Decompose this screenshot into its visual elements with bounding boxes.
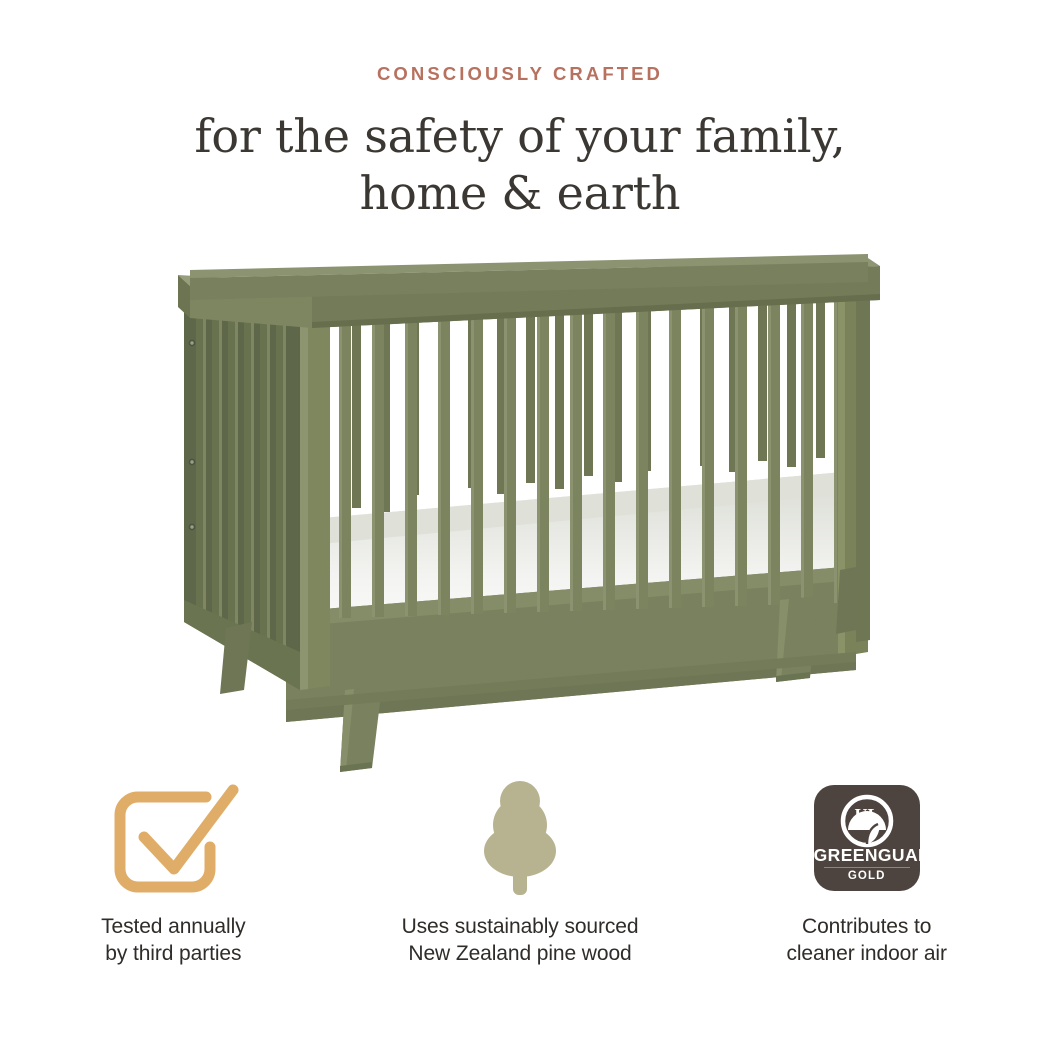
greenguard-name: GREENGUARD <box>814 845 920 866</box>
crib-mattress <box>300 470 866 662</box>
caption-line-1: Tested annually <box>101 915 245 938</box>
leg-front-left <box>340 686 382 772</box>
caption-line-1: Uses sustainably sourced <box>402 915 639 938</box>
crib-front-left-post <box>300 300 330 690</box>
page-title: for the safety of your family, home & ea… <box>0 108 1040 222</box>
feature-tested-annually: Tested annually by third parties <box>0 775 347 985</box>
check-square-icon <box>102 775 244 900</box>
greenguard-tier: GOLD <box>814 870 920 882</box>
caption-line-2: New Zealand pine wood <box>402 940 639 967</box>
greenguard-badge: UL GREENGUARD GOLD <box>814 785 920 891</box>
crib-left-end-panel <box>184 300 300 690</box>
feature-caption: Uses sustainably sourced New Zealand pin… <box>402 913 639 967</box>
crib-base-rail <box>286 566 856 722</box>
crib-front-right-post <box>838 274 868 657</box>
caption-line-1: Contributes to <box>802 915 931 938</box>
leg-back-left <box>220 622 252 694</box>
crib-front-slats <box>306 276 846 618</box>
marketing-graphic: CONSCIOUSLY CRAFTED for the safety of yo… <box>0 0 1040 1040</box>
greenguard-gold-badge-icon: UL GREENGUARD GOLD <box>814 775 920 900</box>
crib-top-rail-back <box>190 254 868 300</box>
crib-top-rail-left <box>178 275 312 328</box>
feature-sustainable-wood: Uses sustainably sourced New Zealand pin… <box>347 775 694 985</box>
screw-icon <box>189 340 196 347</box>
leg-front-right <box>776 596 818 682</box>
caption-line-2: cleaner indoor air <box>786 940 946 967</box>
crib-legs <box>220 566 862 772</box>
headline-line-1: for the safety of your family, <box>195 109 846 163</box>
feature-caption: Tested annually by third parties <box>101 913 245 967</box>
feature-caption: Contributes to cleaner indoor air <box>786 913 946 967</box>
eyebrow-text: CONSCIOUSLY CRAFTED <box>0 63 1040 85</box>
tree-icon <box>465 775 575 900</box>
feature-row: Tested annually by third parties Uses su… <box>0 775 1040 985</box>
caption-line-2: by third parties <box>101 940 245 967</box>
screw-icon <box>189 524 196 531</box>
headline-line-2: home & earth <box>0 165 1040 222</box>
crib-back-slats <box>352 292 854 512</box>
screw-icon <box>189 459 196 466</box>
feature-greenguard: UL GREENGUARD GOLD Contributes to cleane… <box>693 775 1040 985</box>
crib-top-rail-front <box>300 258 880 328</box>
greenguard-divider <box>824 867 910 868</box>
leg-back-right <box>836 566 862 634</box>
